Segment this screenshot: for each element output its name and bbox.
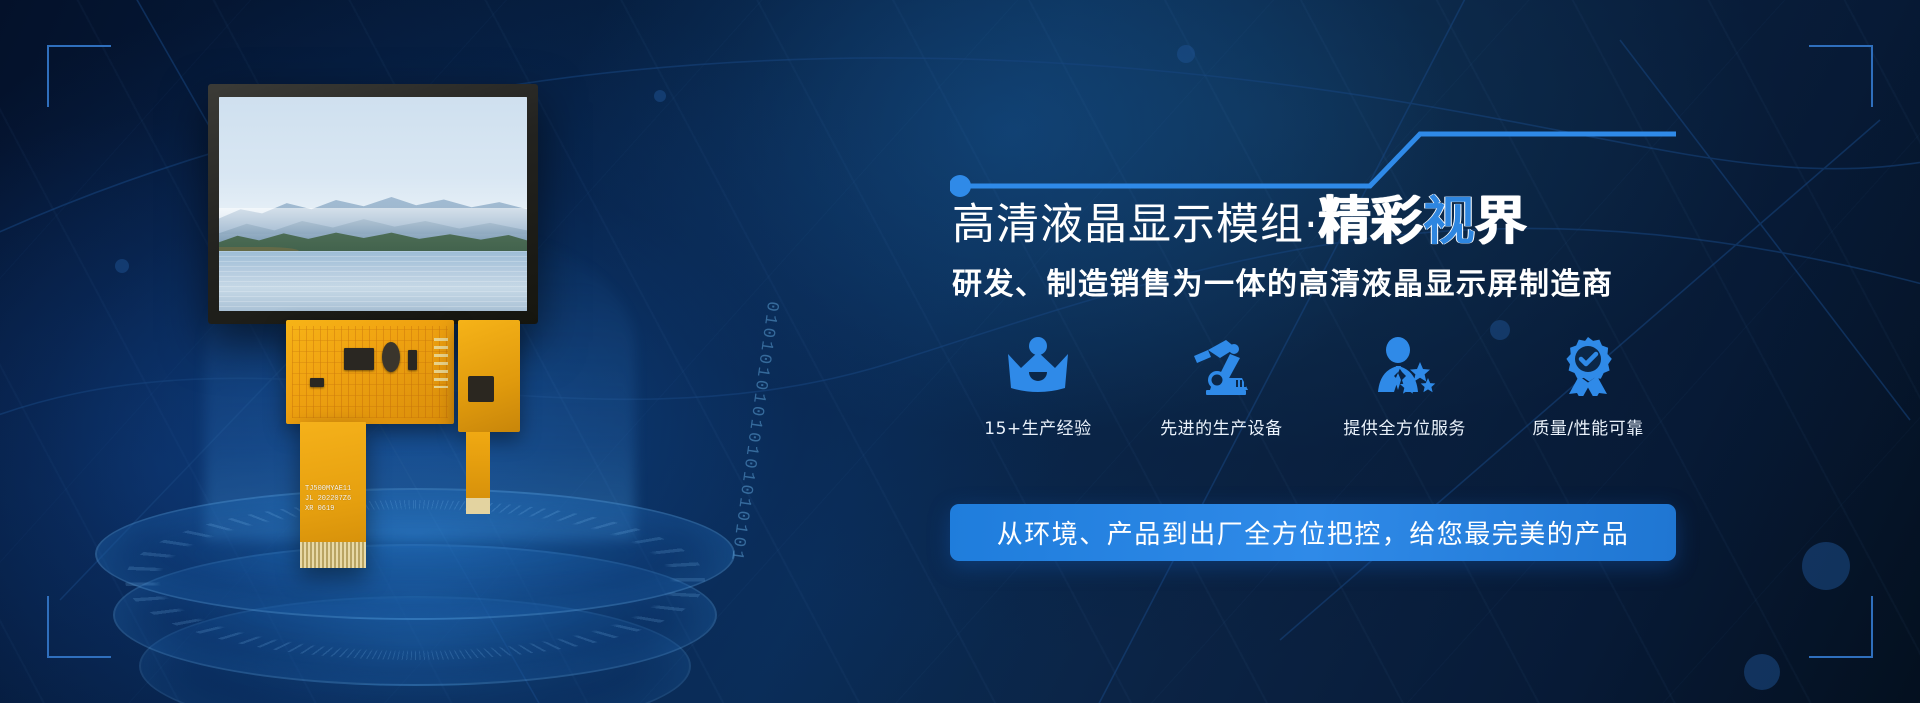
headline-prefix: 高清液晶显示模组· (952, 200, 1319, 250)
lcd-bezel (208, 84, 538, 324)
pcb-resistor (310, 378, 324, 387)
fpc-part-label: TJ500MYAE11 JL 202207Z6 XR 0619 (305, 484, 363, 514)
flex-pcb-right (458, 320, 520, 432)
pcb-right-component (468, 376, 494, 402)
person-stars-icon (1372, 330, 1438, 402)
stepped-connector-line (950, 120, 1676, 200)
corner-bracket-top-left (47, 45, 111, 107)
feature-list: 15+生产经验 (950, 330, 1676, 450)
corner-bracket-bottom-right (1809, 596, 1873, 658)
corner-bracket-top-right (1809, 45, 1873, 107)
feature-item-experience: 15+生产经验 (950, 330, 1126, 439)
flex-pcb-ribbon: TJ500MYAE11 JL 202207Z6 XR 0619 (300, 422, 366, 568)
pcb-right-connector (466, 498, 490, 514)
promo-banner: 01010101010101010101 (0, 0, 1920, 703)
cta-text: 从环境、产品到出厂全方位把控，给您最完美的产品 (997, 514, 1630, 551)
headline-strong-accent: 视 (1423, 192, 1475, 252)
pcb-contact-pads (434, 338, 448, 388)
screen-lake (219, 251, 527, 311)
feature-item-service: 提供全方位服务 (1317, 330, 1493, 439)
podium-disc-middle (113, 544, 717, 686)
page-title: 高清液晶显示模组·精彩视界 (952, 196, 1527, 248)
binary-code-strip: 01010101010101010101 (726, 300, 782, 564)
feature-label: 提供全方位服务 (1343, 414, 1466, 439)
cta-banner[interactable]: 从环境、产品到出厂全方位把控，给您最完美的产品 (950, 504, 1676, 561)
banner-content: 高清液晶显示模组·精彩视界 研发、制造销售为一体的高清液晶显示屏制造商 15+生… (950, 0, 1670, 703)
corner-bracket-bottom-left (47, 596, 111, 658)
headline-strong-last: 界 (1475, 192, 1527, 252)
feature-item-equipment: 先进的生产设备 (1133, 330, 1309, 439)
headline-strong-first: 精彩 (1319, 192, 1423, 252)
page-subtitle: 研发、制造销售为一体的高清液晶显示屏制造商 (952, 259, 1614, 303)
flex-pcb-right-tail (466, 432, 490, 514)
feature-label: 先进的生产设备 (1160, 414, 1283, 439)
robot-arm-icon (1188, 330, 1254, 402)
crown-icon (1005, 330, 1071, 402)
pcb-capacitor (382, 342, 400, 372)
feature-label: 质量/性能可靠 (1532, 414, 1643, 439)
feature-label: 15+生产经验 (984, 414, 1091, 439)
feature-item-quality: 质量/性能可靠 (1500, 330, 1676, 439)
award-badge-icon (1555, 330, 1621, 402)
podium-disc-outer (139, 596, 691, 703)
lcd-screen (219, 97, 527, 311)
lcd-module-product: TJ500MYAE11 JL 202207Z6 XR 0619 (208, 84, 538, 554)
flex-pcb-board (286, 320, 454, 424)
pcb-chip (344, 348, 374, 370)
fpc-gold-fingers (300, 542, 366, 568)
pcb-ic (408, 350, 417, 370)
